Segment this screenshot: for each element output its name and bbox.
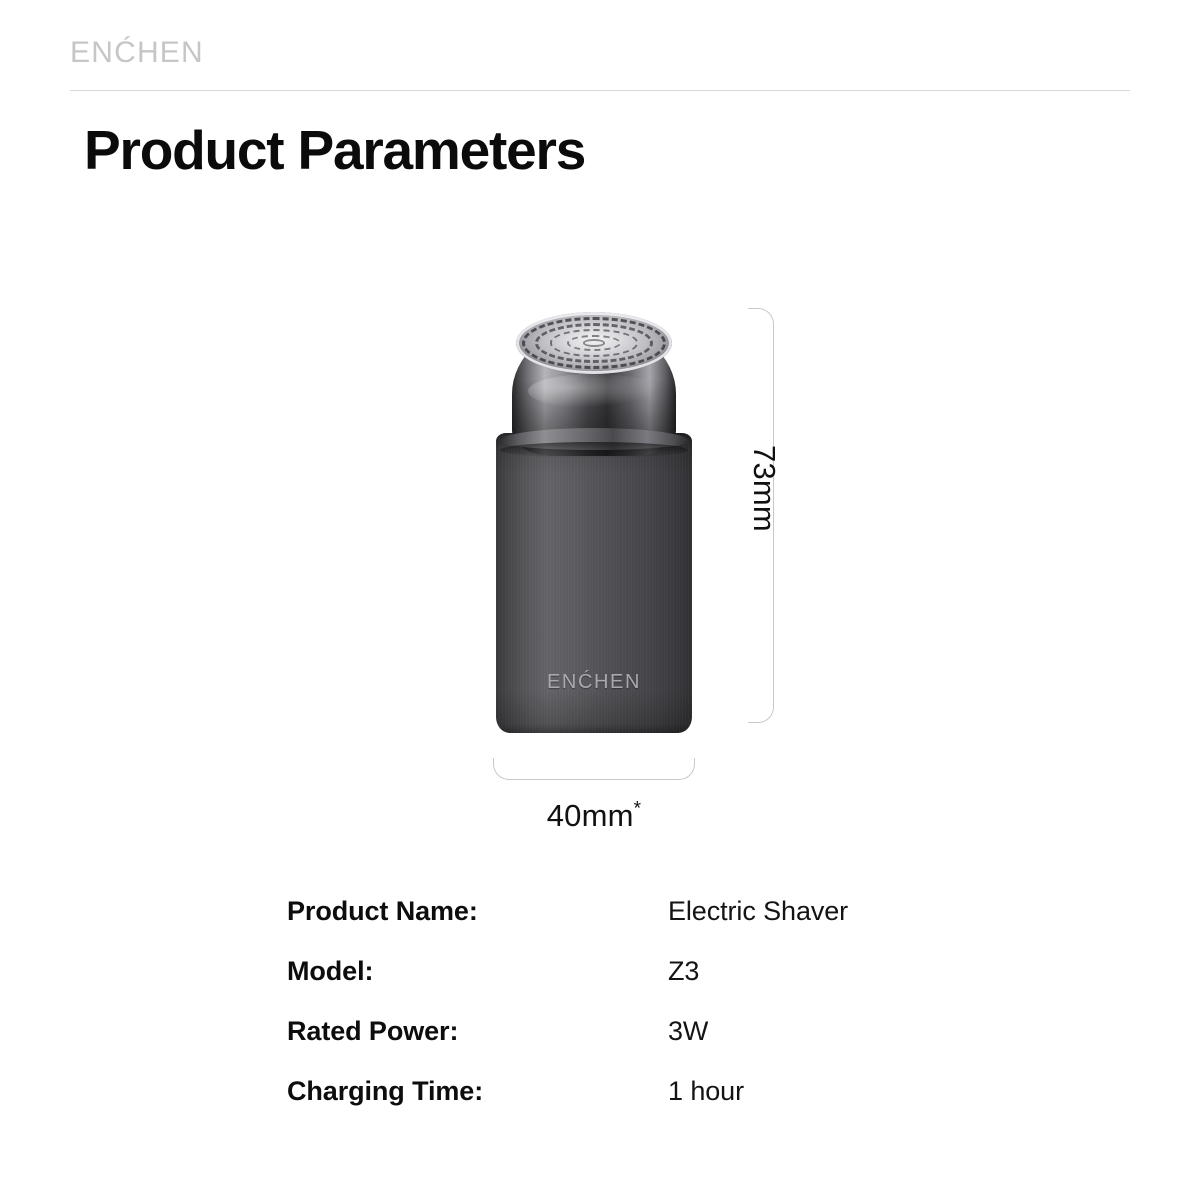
header-divider [70,90,1130,91]
width-dimension-bracket [493,758,695,780]
table-row: Rated Power: 3W [287,1016,987,1076]
shaver-body: ENĆHEN [496,433,692,733]
table-row: Product Name: Electric Shaver [287,896,987,956]
table-row: Model: Z3 [287,956,987,1016]
shaver-foil [516,312,672,374]
shaver-collar-shadow [500,442,688,458]
brand-logo: ENĆHEN [70,36,1130,70]
product-image-shaver: ENĆHEN [478,290,710,998]
width-dimension-value: 40mm [547,798,634,833]
brand-header: ENĆHEN [70,36,1130,82]
foil-rim [516,312,672,374]
spec-value-model: Z3 [668,956,699,987]
product-figure: ENĆHEN 73mm 40mm* [430,270,860,850]
height-dimension-label: 73mm [746,445,782,532]
spec-label-model: Model: [287,956,668,987]
table-row: Charging Time: 1 hour [287,1076,987,1136]
spec-value-charging-time: 1 hour [668,1076,744,1107]
spec-table: Product Name: Electric Shaver Model: Z3 … [287,896,987,1136]
spec-value-product-name: Electric Shaver [668,896,848,927]
spec-label-rated-power: Rated Power: [287,1016,668,1047]
spec-label-charging-time: Charging Time: [287,1076,668,1107]
spec-value-rated-power: 3W [668,1016,708,1047]
width-dimension-label: 40mm* [493,798,695,834]
width-dimension-asterisk: * [634,799,642,820]
page-title: Product Parameters [84,112,585,188]
shaver-body-logo: ENĆHEN [496,671,692,694]
spec-label-product-name: Product Name: [287,896,668,927]
